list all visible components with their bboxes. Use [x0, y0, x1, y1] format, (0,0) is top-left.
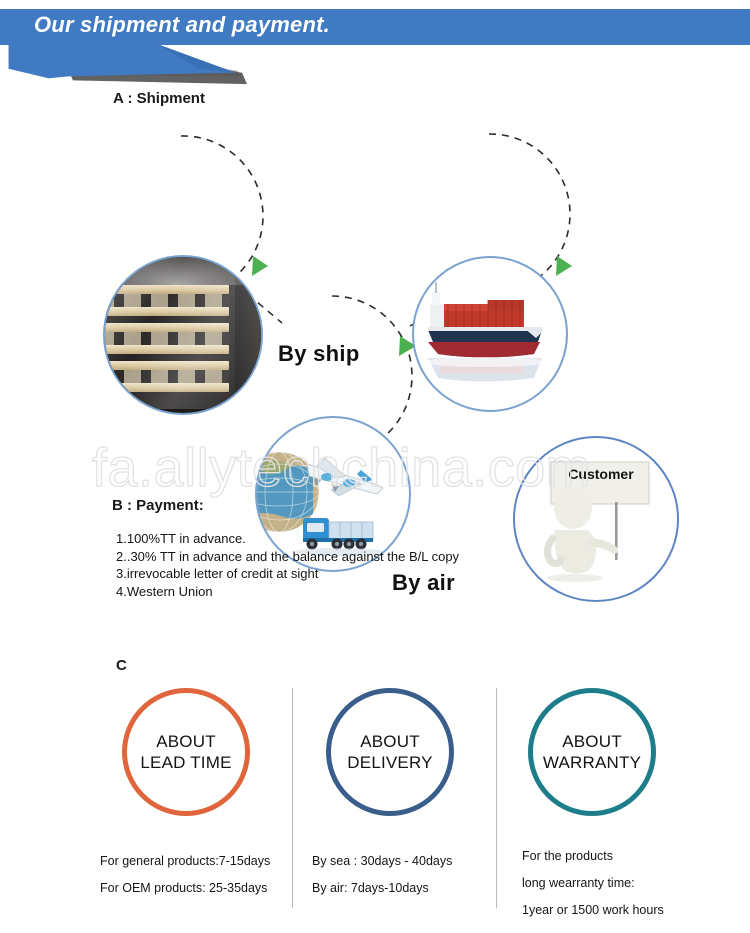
note-line: By air: 7days-10days: [312, 875, 508, 902]
label-by-ship: By ship: [278, 341, 360, 367]
node-pallets-photo: [103, 255, 263, 415]
warranty-notes: For the products long wearranty time: 1y…: [522, 843, 718, 924]
section-b-label: B : Payment:: [112, 497, 204, 514]
about-warranty-circle: ABOUT WARRANTY: [528, 688, 656, 816]
about-delivery-circle: ABOUT DELIVERY: [326, 688, 454, 816]
section-c-label: C: [116, 657, 127, 674]
note-line: 1year or 1500 work hours: [522, 897, 718, 924]
node-customer: Customer: [513, 436, 679, 602]
note-line: For general products:7-15days: [100, 848, 296, 875]
circle-title-line2: DELIVERY: [347, 752, 432, 773]
header-banner: Our shipment and payment.: [0, 0, 750, 92]
payment-item: 2..30% TT in advance and the balance aga…: [116, 548, 459, 566]
banner-title: Our shipment and payment.: [34, 12, 330, 38]
section-a-label: A : Shipment: [113, 90, 205, 107]
lead-time-notes: For general products:7-15days For OEM pr…: [100, 848, 296, 902]
circle-title-line2: LEAD TIME: [140, 752, 231, 773]
note-line: For OEM products: 25-35days: [100, 875, 296, 902]
arrow-green-ship: [556, 256, 572, 276]
node-ship-photo: [412, 256, 568, 412]
payment-item: 3.irrevocable letter of credit at sight: [116, 565, 459, 583]
page-root: Our shipment and payment. A : Shipment: [0, 0, 750, 933]
circle-title-line1: ABOUT: [360, 731, 420, 752]
shipment-diagram: Customer By ship By air: [0, 118, 750, 488]
about-lead-time-circle: ABOUT LEAD TIME: [122, 688, 250, 816]
note-line: For the products: [522, 843, 718, 870]
banner-tail: [0, 44, 360, 84]
customer-figure-icon: [515, 438, 673, 596]
section-c-grid: ABOUT LEAD TIME For general products:7-1…: [100, 680, 700, 925]
note-line: long wearranty time:: [522, 870, 718, 897]
payment-item: 1.100%TT in advance.: [116, 530, 459, 548]
payment-item: 4.Western Union: [116, 583, 459, 601]
c-column-warranty: ABOUT WARRANTY For the products long wea…: [508, 680, 708, 925]
circle-title-line1: ABOUT: [156, 731, 216, 752]
circle-title-line1: ABOUT: [562, 731, 622, 752]
payment-terms-list: 1.100%TT in advance. 2..30% TT in advanc…: [116, 530, 459, 600]
c-column-delivery: ABOUT DELIVERY By sea : 30days - 40days …: [304, 680, 504, 925]
pallet-stack-image: [103, 257, 263, 409]
note-line: By sea : 30days - 40days: [312, 848, 508, 875]
c-column-lead-time: ABOUT LEAD TIME For general products:7-1…: [100, 680, 300, 925]
container-ship-icon: [414, 258, 562, 406]
circle-title-line2: WARRANTY: [543, 752, 641, 773]
customer-sign-label: Customer: [553, 466, 649, 482]
delivery-notes: By sea : 30days - 40days By air: 7days-1…: [312, 848, 508, 902]
